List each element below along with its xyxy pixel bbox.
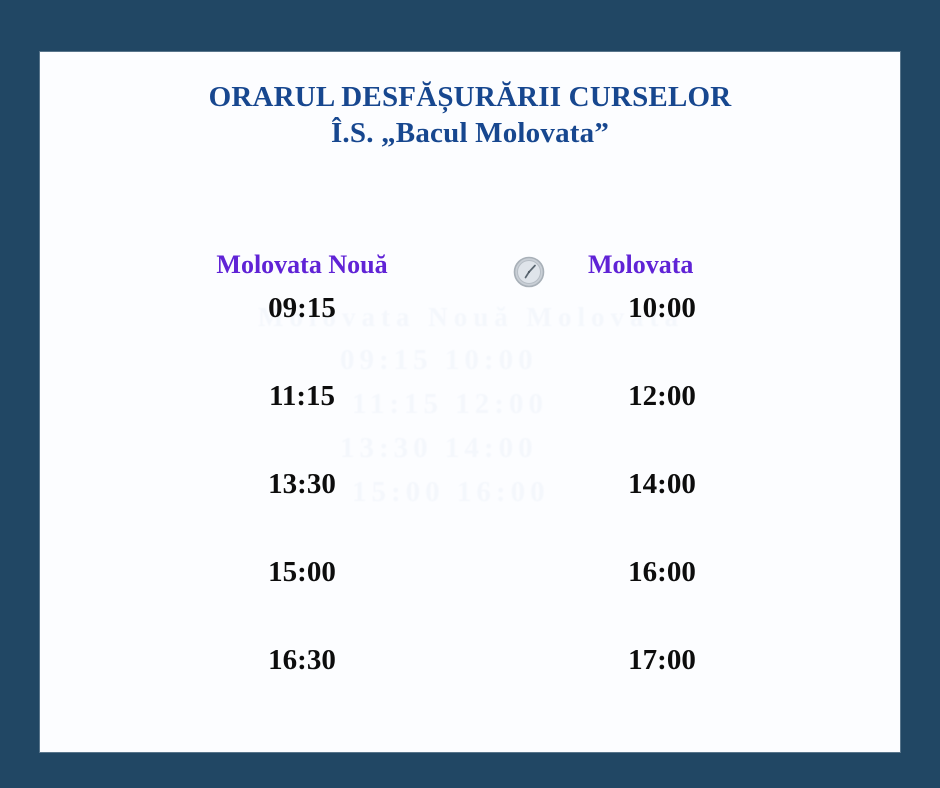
table-row: 09:15 10:00 xyxy=(40,292,900,380)
arrival-time: 14:00 xyxy=(542,468,782,501)
table-row: 16:30 17:00 xyxy=(40,644,900,732)
page-frame: ORARUL DESFĂȘURĂRII CURSELOR Î.S. „Bacul… xyxy=(0,0,940,788)
column-header-departure: Molovata Nouă xyxy=(162,250,442,280)
schedule-table: 09:15 10:00 11:15 12:00 13:30 14:00 15:0… xyxy=(40,292,900,732)
departure-time: 11:15 xyxy=(182,380,422,413)
title-line-1: ORARUL DESFĂȘURĂRII CURSELOR xyxy=(40,80,900,116)
arrival-time: 12:00 xyxy=(542,380,782,413)
arrival-time: 16:00 xyxy=(542,556,782,589)
departure-time: 15:00 xyxy=(182,556,422,589)
departure-time: 13:30 xyxy=(182,468,422,501)
column-header-arrival: Molovata xyxy=(588,250,788,280)
title-line-2: Î.S. „Bacul Molovata” xyxy=(40,116,900,152)
departure-time: 16:30 xyxy=(182,644,422,677)
arrival-time: 17:00 xyxy=(542,644,782,677)
departure-time: 09:15 xyxy=(182,292,422,325)
table-row: 13:30 14:00 xyxy=(40,468,900,556)
table-row: 15:00 16:00 xyxy=(40,556,900,644)
schedule-card: ORARUL DESFĂȘURĂRII CURSELOR Î.S. „Bacul… xyxy=(40,52,900,752)
arrival-time: 10:00 xyxy=(542,292,782,325)
table-row: 11:15 12:00 xyxy=(40,380,900,468)
page-title: ORARUL DESFĂȘURĂRII CURSELOR Î.S. „Bacul… xyxy=(40,80,900,152)
column-headers: Molovata Nouă Molovata xyxy=(40,250,900,298)
clock-icon xyxy=(512,255,546,289)
